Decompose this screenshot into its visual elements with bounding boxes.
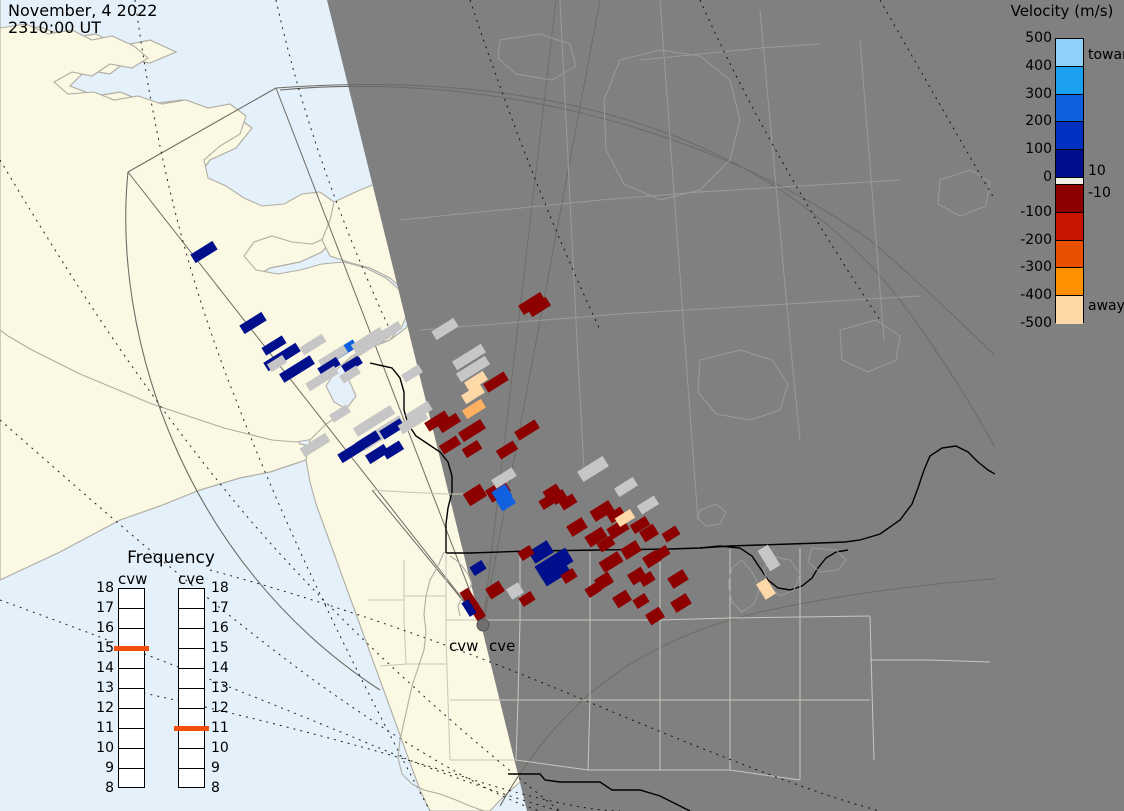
frequency-bar-cve[interactable] bbox=[178, 588, 205, 788]
colorbar-band-away-3 bbox=[1056, 268, 1083, 296]
frequency-tick-cvw-13: 13 bbox=[88, 680, 114, 696]
colorbar-tick-neg300: -300 bbox=[1020, 259, 1052, 275]
frequency-tick-cvw-12: 12 bbox=[88, 700, 114, 716]
colorbar-band-toward-4 bbox=[1056, 150, 1083, 178]
frequency-tick-cve-17: 17 bbox=[211, 600, 237, 616]
colorbar-gradient-strip[interactable] bbox=[1055, 38, 1084, 323]
frequency-tick-cve-14: 14 bbox=[211, 660, 237, 676]
frequency-segment bbox=[179, 669, 204, 689]
colorbar-tick-neg200: -200 bbox=[1020, 232, 1052, 248]
site-label-cvw: cvw bbox=[449, 637, 478, 655]
colorbar-band-away-2 bbox=[1056, 241, 1083, 269]
frequency-tick-cve-11: 11 bbox=[211, 720, 237, 736]
colorbar-band-toward-2 bbox=[1056, 95, 1083, 123]
colorbar-tick-400: 400 bbox=[1025, 58, 1052, 74]
frequency-segment bbox=[119, 609, 144, 629]
frequency-tick-cvw-17: 17 bbox=[88, 600, 114, 616]
colorbar-tick-100: 100 bbox=[1025, 141, 1052, 157]
colorbar-tick-0: 0 bbox=[1043, 169, 1052, 185]
frequency-segment bbox=[119, 769, 144, 789]
frequency-tick-cve-18: 18 bbox=[211, 580, 237, 596]
colorbar-band-away-4 bbox=[1056, 296, 1083, 324]
frequency-segment bbox=[119, 729, 144, 749]
radar-velocity-map-view: cvw cve Frequency cvw cve 18171615141312… bbox=[0, 0, 1124, 811]
frequency-segment bbox=[119, 749, 144, 769]
colorbar-tick-300: 300 bbox=[1025, 86, 1052, 102]
colorbar-band-away-0 bbox=[1056, 185, 1083, 213]
frequency-tick-cve-9: 9 bbox=[211, 760, 237, 776]
timestamp-time: 2310:00 UT bbox=[8, 18, 101, 37]
colorbar-toward-label: toward bbox=[1088, 47, 1124, 63]
radar-site-origin-marker[interactable] bbox=[477, 619, 489, 631]
frequency-tick-cvw-18: 18 bbox=[88, 580, 114, 596]
frequency-marker-cvw bbox=[114, 646, 149, 651]
colorbar-tick-neg100: -100 bbox=[1020, 204, 1052, 220]
frequency-segment bbox=[119, 589, 144, 609]
colorbar-tick-200: 200 bbox=[1025, 113, 1052, 129]
frequency-tick-cvw-15: 15 bbox=[88, 640, 114, 656]
frequency-tick-cvw-11: 11 bbox=[88, 720, 114, 736]
timestamp-header: November, 4 20222310:00 UT bbox=[8, 2, 157, 36]
frequency-panel: Frequency cvw cve 1817161514131211109818… bbox=[96, 548, 246, 804]
frequency-tick-cvw-10: 10 bbox=[88, 740, 114, 756]
frequency-segment bbox=[119, 709, 144, 729]
colorbar-band-toward-1 bbox=[1056, 67, 1083, 95]
frequency-tick-cve-16: 16 bbox=[211, 620, 237, 636]
frequency-bar-cvw[interactable] bbox=[118, 588, 145, 788]
colorbar-tick-neg400: -400 bbox=[1020, 287, 1052, 303]
frequency-segment bbox=[119, 689, 144, 709]
colorbar-threshold-negative-label: -10 bbox=[1088, 185, 1111, 201]
colorbar-tick-500: 500 bbox=[1025, 30, 1052, 46]
frequency-tick-cvw-16: 16 bbox=[88, 620, 114, 636]
frequency-tick-cve-12: 12 bbox=[211, 700, 237, 716]
colorbar-away-label: away bbox=[1088, 298, 1124, 314]
frequency-segment bbox=[119, 669, 144, 689]
frequency-segment bbox=[119, 649, 144, 669]
colorbar-threshold-positive-label: 10 bbox=[1088, 163, 1106, 179]
colorbar-zero-band bbox=[1056, 178, 1083, 185]
frequency-tick-cve-8: 8 bbox=[211, 780, 237, 796]
colorbar-band-toward-3 bbox=[1056, 122, 1083, 150]
frequency-tick-cvw-14: 14 bbox=[88, 660, 114, 676]
frequency-segment bbox=[179, 729, 204, 749]
frequency-segment bbox=[179, 629, 204, 649]
site-label-cve: cve bbox=[489, 637, 515, 655]
frequency-segment bbox=[179, 689, 204, 709]
frequency-segment bbox=[179, 749, 204, 769]
frequency-column-label-cvw: cvw bbox=[118, 570, 147, 588]
map-canvas[interactable]: cvw cve Frequency cvw cve 18171615141312… bbox=[0, 0, 995, 811]
colorbar-band-toward-0 bbox=[1056, 39, 1083, 67]
frequency-column-label-cve: cve bbox=[178, 570, 204, 588]
frequency-tick-cve-10: 10 bbox=[211, 740, 237, 756]
velocity-colorbar-panel: Velocity (m/s) 5004003002001000-100-200-… bbox=[995, 0, 1124, 811]
colorbar-band-away-1 bbox=[1056, 213, 1083, 241]
frequency-segment bbox=[179, 589, 204, 609]
colorbar-tick-neg500: -500 bbox=[1020, 315, 1052, 331]
frequency-segment bbox=[179, 649, 204, 669]
frequency-marker-cve bbox=[174, 726, 209, 731]
frequency-segment bbox=[179, 769, 204, 789]
frequency-tick-cve-15: 15 bbox=[211, 640, 237, 656]
frequency-tick-cvw-9: 9 bbox=[88, 760, 114, 776]
frequency-panel-title: Frequency bbox=[96, 548, 246, 568]
frequency-segment bbox=[179, 609, 204, 629]
frequency-tick-cvw-8: 8 bbox=[88, 780, 114, 796]
colorbar-title: Velocity (m/s) bbox=[1000, 2, 1124, 20]
frequency-tick-cve-13: 13 bbox=[211, 680, 237, 696]
